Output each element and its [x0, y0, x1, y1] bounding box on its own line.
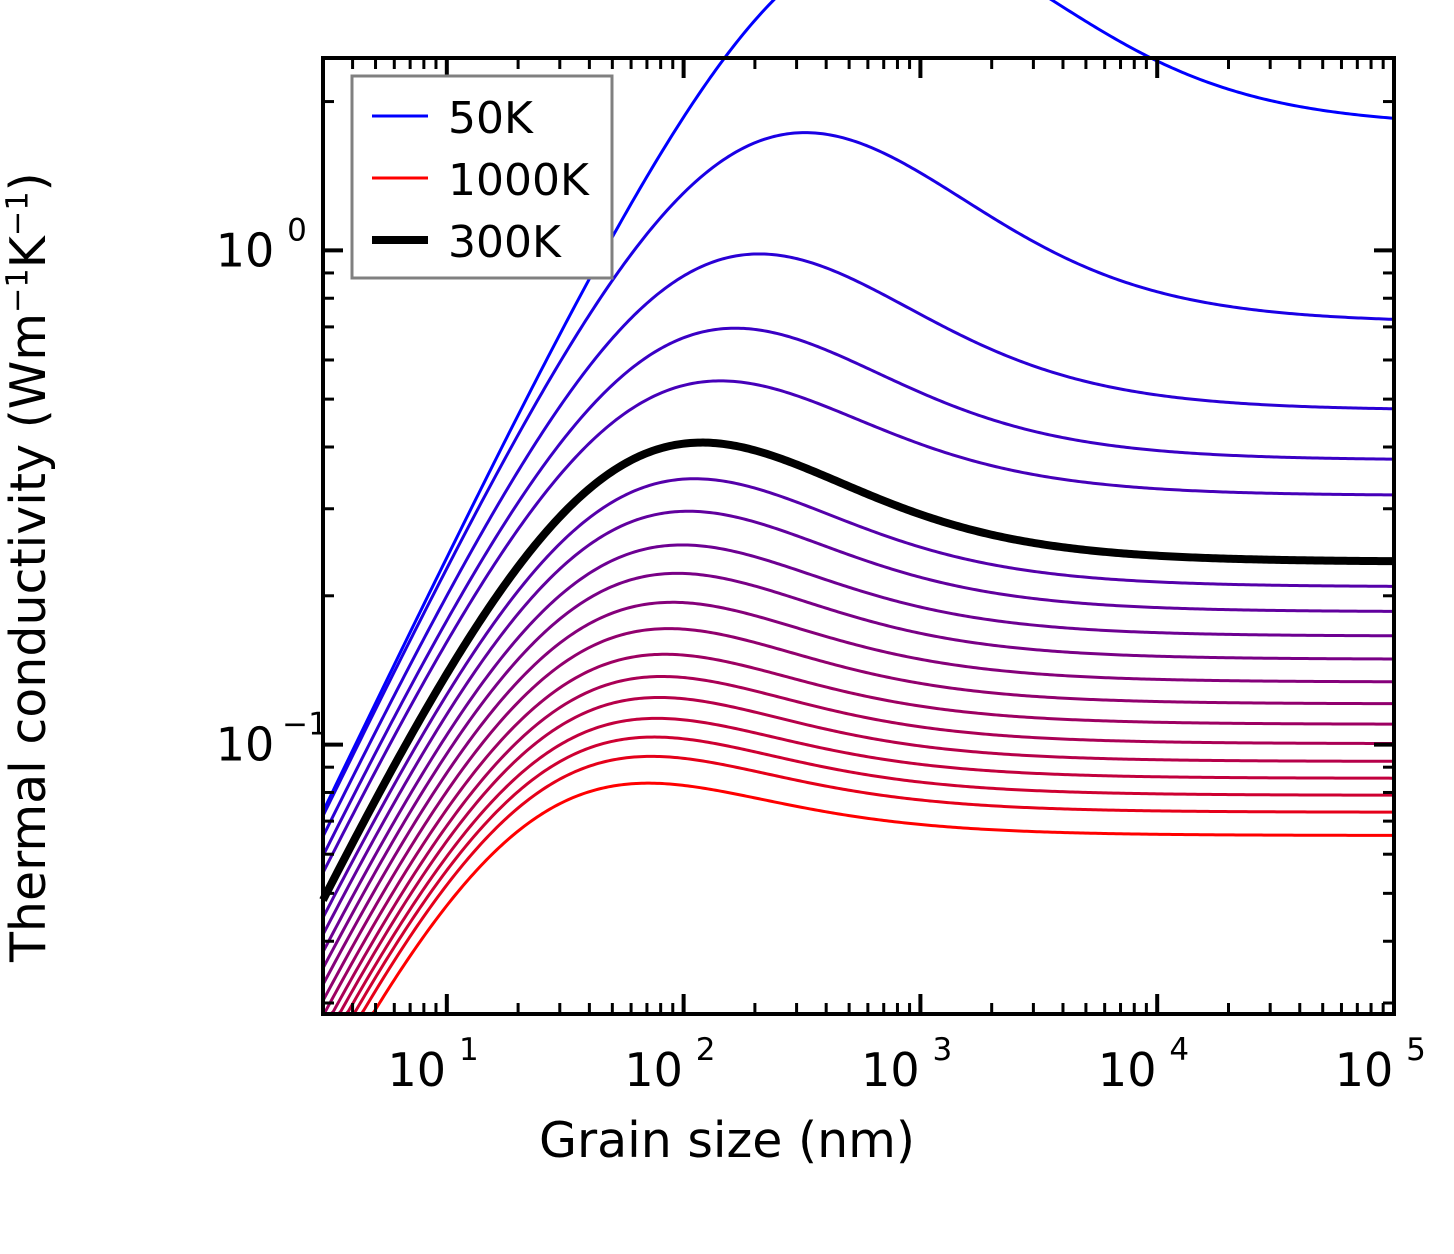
curve-700K — [323, 677, 1394, 1014]
legend-label-300K: 300K — [448, 217, 562, 268]
curve-600K — [323, 629, 1394, 1001]
y-axis-title: Thermal conductivity (Wm−1K−1) — [0, 0, 57, 962]
x-tick-label: 10 — [1098, 1043, 1157, 1097]
y-axis-title-text: Thermal conductivity (Wm — [0, 313, 57, 962]
curve-1000K — [323, 783, 1394, 1014]
y-tick-labels: 10−1100 — [216, 212, 328, 771]
y-tick-label-exponent: −1 — [282, 707, 328, 743]
y-axis-title-exp2: −1 — [1, 191, 36, 236]
plot-area: 101102103104105 10−1100 50K1000K300K — [0, 0, 1454, 1254]
x-tick-labels: 101102103104105 — [388, 1032, 1426, 1097]
y-axis-title-mid: K — [0, 236, 57, 268]
y-axis-title-exp1: −1 — [1, 268, 36, 313]
x-tick-label: 10 — [388, 1043, 447, 1097]
curve-350K — [323, 479, 1394, 918]
x-tick-label: 10 — [861, 1043, 920, 1097]
y-axis-title-end: ) — [0, 172, 57, 191]
x-tick-label-exponent: 4 — [1169, 1032, 1189, 1068]
x-tick-label: 10 — [1335, 1043, 1394, 1097]
curve-750K — [323, 697, 1394, 1014]
x-tick-label-exponent: 5 — [1406, 1032, 1426, 1068]
legend-label-50K: 50K — [448, 93, 534, 144]
curve-150K — [323, 254, 1394, 836]
x-tick-label-exponent: 1 — [459, 1032, 479, 1068]
y-tick-label-exponent: 0 — [287, 212, 307, 248]
legend: 50K1000K300K — [352, 76, 612, 278]
x-axis-title: Grain size (nm) — [0, 1112, 1454, 1169]
curve-450K — [323, 545, 1394, 952]
x-tick-label-exponent: 3 — [933, 1032, 953, 1068]
y-tick-label: 10 — [216, 718, 275, 772]
x-tick-label: 10 — [624, 1043, 683, 1097]
legend-label-1000K: 1000K — [448, 155, 590, 206]
y-tick-label: 10 — [216, 223, 275, 277]
figure-canvas: 101102103104105 10−1100 50K1000K300K Gra… — [0, 0, 1454, 1254]
x-tick-label-exponent: 2 — [696, 1032, 716, 1068]
curve-500K — [323, 573, 1394, 968]
